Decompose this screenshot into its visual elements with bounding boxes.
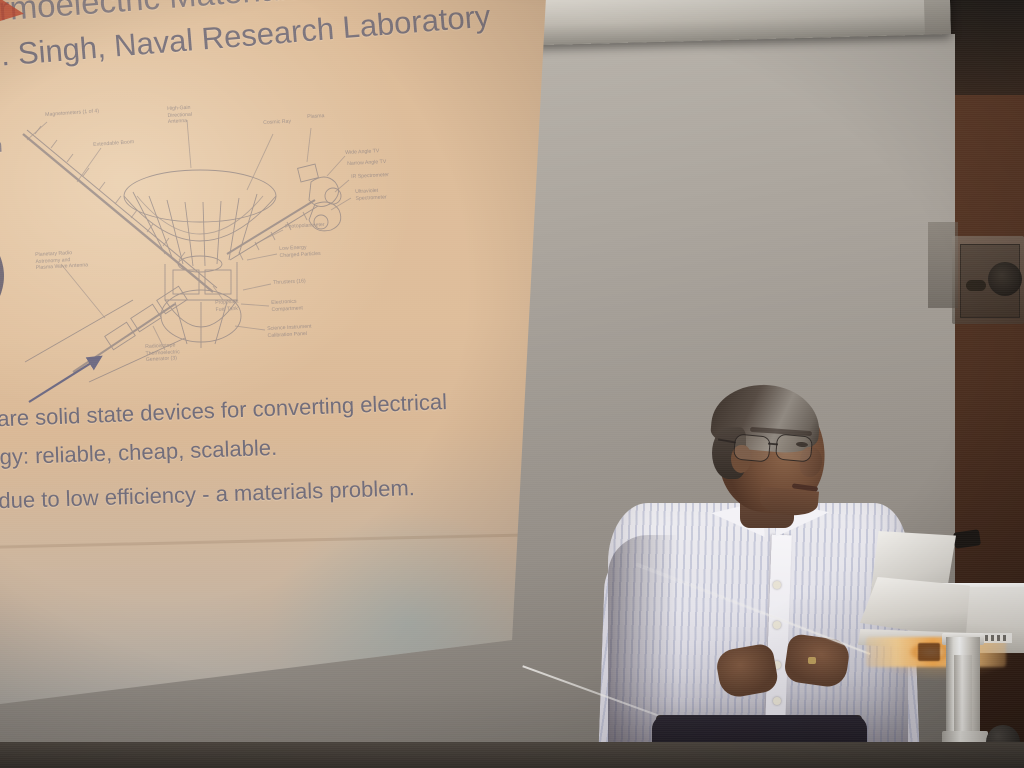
screen-housing-end-cap <box>924 0 951 35</box>
glasses-lens-left <box>733 433 771 462</box>
shirt-button <box>773 581 781 589</box>
speaker-cone <box>988 262 1022 296</box>
floor <box>0 742 1024 768</box>
shirt-button <box>773 697 781 705</box>
lectern <box>850 525 1024 768</box>
speaker-port <box>966 280 986 291</box>
projected-slide: ...ons to Search fo ermoelectric Materia… <box>0 0 560 714</box>
wall-speaker <box>952 236 1024 324</box>
glasses-icon <box>732 431 832 465</box>
shirt-button <box>773 621 781 629</box>
glasses-lens-right <box>775 433 813 462</box>
lectern-clip <box>953 529 981 548</box>
finger-ring <box>808 657 816 664</box>
presentation-room-photo: ...ons to Search fo ermoelectric Materia… <box>0 0 1024 768</box>
lamp-bulb-shadow <box>918 643 940 661</box>
slide-vignette <box>0 0 560 714</box>
